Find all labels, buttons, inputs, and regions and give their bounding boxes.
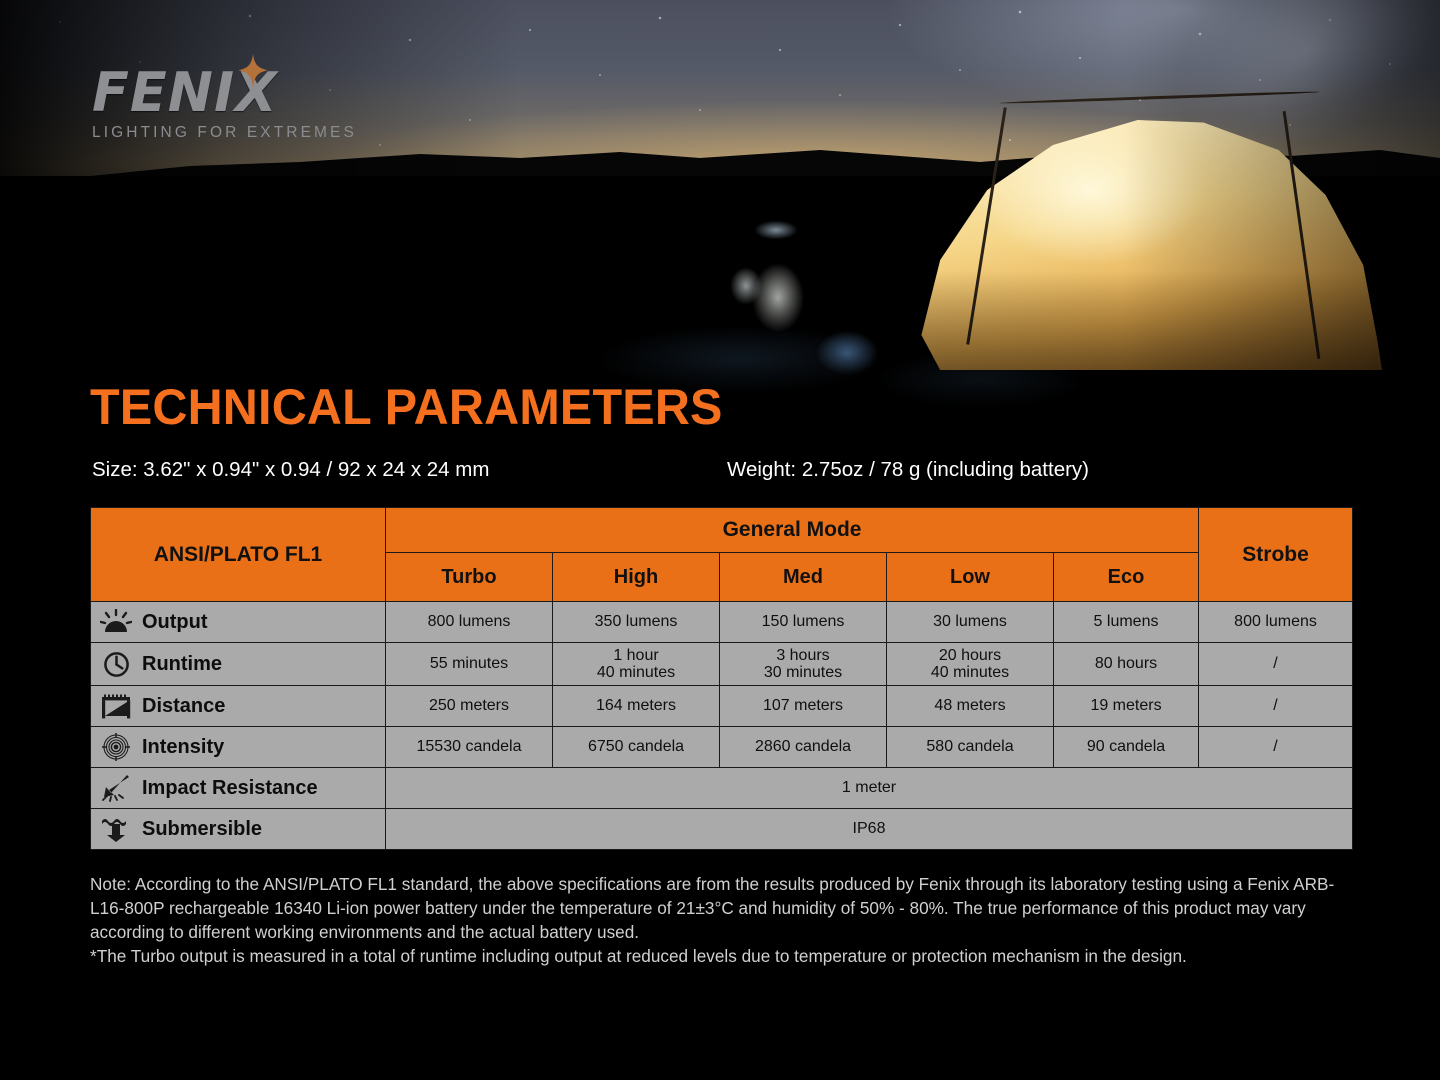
brand-tagline: LIGHTING FOR EXTREMES <box>92 124 392 142</box>
row-label-distance: Distance <box>91 686 386 727</box>
row-label-impact-resistance: Impact Resistance <box>91 768 386 809</box>
cell-distance-med: 107 meters <box>720 686 887 727</box>
cell-distance-turbo: 250 meters <box>386 686 553 727</box>
spec-weight: Weight: 2.75oz / 78 g (including battery… <box>727 458 1089 482</box>
row-label-text: Impact Resistance <box>142 777 318 800</box>
cell-distance-high: 164 meters <box>553 686 720 727</box>
cell-runtime-med: 3 hours30 minutes <box>720 643 887 686</box>
fenix-logo: FENIX LIGHTING FOR EXTREMES <box>92 66 392 142</box>
mode-header-med: Med <box>720 553 887 602</box>
table-row: Distance 250 meters 164 meters 107 meter… <box>91 686 1353 727</box>
general-mode-header: General Mode <box>386 508 1199 553</box>
cell-runtime-low: 20 hours40 minutes <box>887 643 1054 686</box>
footnote-paragraph-2: *The Turbo output is measured in a total… <box>90 944 1362 968</box>
water-arrow-icon <box>99 815 133 843</box>
clock-icon <box>99 650 133 678</box>
star-icon <box>238 54 268 88</box>
table-row: Submersible IP68 <box>91 809 1353 850</box>
target-icon <box>99 733 133 761</box>
row-label-text: Intensity <box>142 736 224 759</box>
row-label-text: Output <box>142 611 208 634</box>
table-row: Runtime 55 minutes 1 hour40 minutes 3 ho… <box>91 643 1353 686</box>
mode-header-turbo: Turbo <box>386 553 553 602</box>
parameters-table-wrap: ANSI/PLATO FL1 General Mode Strobe Turbo… <box>90 507 1352 850</box>
cell-output-low: 30 lumens <box>887 602 1054 643</box>
cell-distance-low: 48 meters <box>887 686 1054 727</box>
mode-header-low: Low <box>887 553 1054 602</box>
strobe-header: Strobe <box>1199 508 1353 602</box>
cell-intensity-high: 6750 candela <box>553 727 720 768</box>
cell-runtime-strobe: / <box>1199 643 1353 686</box>
row-label-text: Runtime <box>142 653 222 676</box>
cell-distance-eco: 19 meters <box>1054 686 1199 727</box>
table-row: Intensity 15530 candela 6750 candela 286… <box>91 727 1353 768</box>
spec-size: Size: 3.62" x 0.94" x 0.94 / 92 x 24 x 2… <box>92 458 489 482</box>
table-row: Output 800 lumens 350 lumens 150 lumens … <box>91 602 1353 643</box>
cell-runtime-turbo: 55 minutes <box>386 643 553 686</box>
parameters-table: ANSI/PLATO FL1 General Mode Strobe Turbo… <box>90 507 1353 850</box>
footnote-paragraph-1: Note: According to the ANSI/PLATO FL1 st… <box>90 872 1362 944</box>
mode-header-eco: Eco <box>1054 553 1199 602</box>
cell-output-strobe: 800 lumens <box>1199 602 1353 643</box>
standard-label: ANSI/PLATO FL1 <box>91 508 386 602</box>
cell-runtime-eco: 80 hours <box>1054 643 1199 686</box>
sunburst-icon <box>99 608 133 636</box>
row-label-intensity: Intensity <box>91 727 386 768</box>
page-root: FENIX LIGHTING FOR EXTREMES TECHNICAL PA… <box>0 0 1440 1080</box>
row-label-text: Distance <box>142 695 225 718</box>
row-label-output: Output <box>91 602 386 643</box>
cell-intensity-med: 2860 candela <box>720 727 887 768</box>
impact-arrow-icon <box>99 774 133 802</box>
cell-impact-resistance-value: 1 meter <box>386 768 1353 809</box>
cell-intensity-strobe: / <box>1199 727 1353 768</box>
row-label-submersible: Submersible <box>91 809 386 850</box>
row-label-runtime: Runtime <box>91 643 386 686</box>
cell-distance-strobe: / <box>1199 686 1353 727</box>
table-row: Impact Resistance 1 meter <box>91 768 1353 809</box>
cell-output-high: 350 lumens <box>553 602 720 643</box>
mode-header-high: High <box>553 553 720 602</box>
cell-intensity-turbo: 15530 candela <box>386 727 553 768</box>
cell-submersible-value: IP68 <box>386 809 1353 850</box>
footnote: Note: According to the ANSI/PLATO FL1 st… <box>90 872 1362 968</box>
page-title: TECHNICAL PARAMETERS <box>90 378 723 436</box>
beam-distance-icon <box>99 692 133 720</box>
cell-runtime-high: 1 hour40 minutes <box>553 643 720 686</box>
cell-output-turbo: 800 lumens <box>386 602 553 643</box>
table-header-row-1: ANSI/PLATO FL1 General Mode Strobe <box>91 508 1353 553</box>
cell-intensity-low: 580 candela <box>887 727 1054 768</box>
row-label-text: Submersible <box>142 818 262 841</box>
cell-intensity-eco: 90 candela <box>1054 727 1199 768</box>
cell-output-eco: 5 lumens <box>1054 602 1199 643</box>
cell-output-med: 150 lumens <box>720 602 887 643</box>
